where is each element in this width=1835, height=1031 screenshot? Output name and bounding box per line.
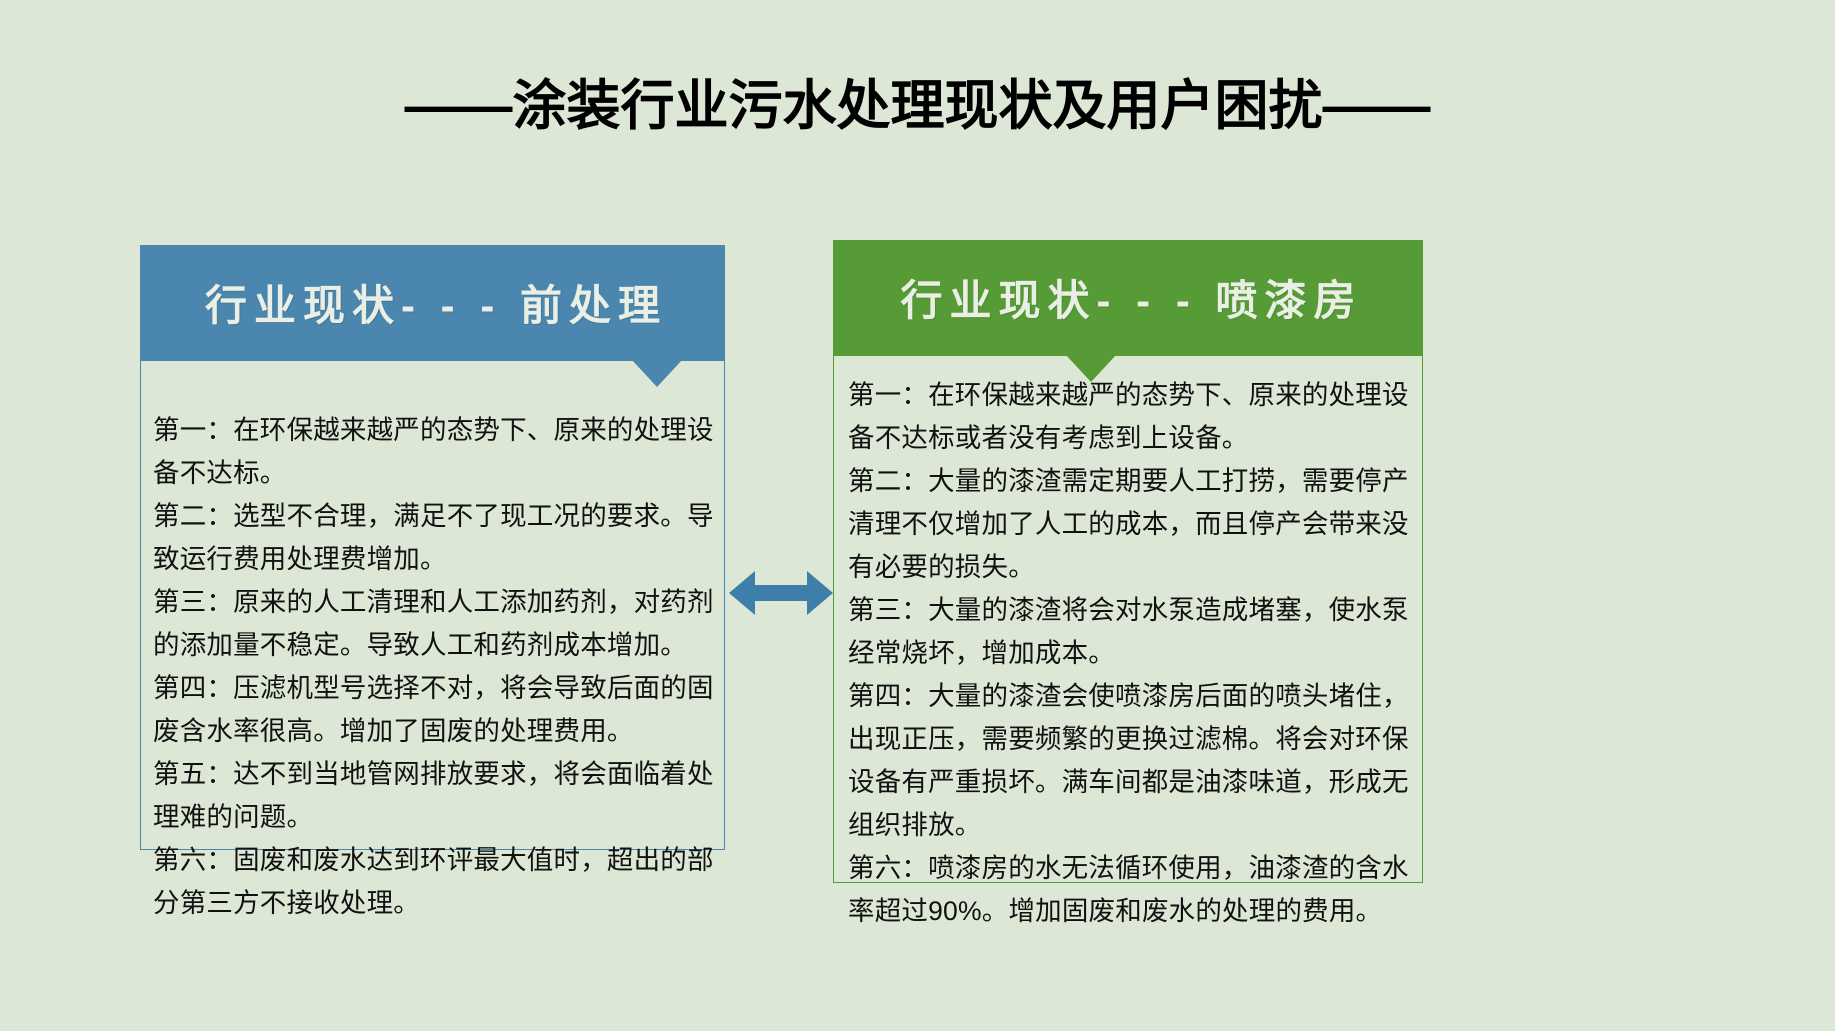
- list-item: 第二：选型不合理，满足不了现工况的要求。导致运行费用处理费增加。: [153, 495, 714, 581]
- panel-pretreatment: 行业现状- - - 前处理 第一：在环保越来越严的态势下、原来的处理设备不达标。…: [140, 245, 725, 850]
- header-pointer-icon: [1065, 354, 1117, 382]
- list-item: 第二：大量的漆渣需定期要人工打捞，需要停产清理不仅增加了人工的成本，而且停产会带…: [848, 460, 1412, 589]
- panel-spray-booth-header-label: 行业现状- - - 喷漆房: [894, 267, 1363, 328]
- list-item: 第六：喷漆房的水无法循环使用，油漆渣的含水率超过90%。增加固废和废水的处理的费…: [848, 847, 1412, 933]
- panel-pretreatment-header: 行业现状- - - 前处理: [140, 245, 725, 360]
- double-arrow-horizontal-icon: [729, 565, 833, 621]
- list-item: 第四：大量的漆渣会使喷漆房后面的喷头堵住，出现正压，需要频繁的更换过滤棉。将会对…: [848, 675, 1412, 847]
- page-title: ——涂装行业污水处理现状及用户困扰——: [0, 74, 1835, 139]
- panel-pretreatment-body: 第一：在环保越来越严的态势下、原来的处理设备不达标。 第二：选型不合理，满足不了…: [140, 360, 725, 850]
- list-item: 第四：压滤机型号选择不对，将会导致后面的固废含水率很高。增加了固废的处理费用。: [153, 667, 714, 753]
- header-pointer-icon: [631, 359, 683, 387]
- list-item: 第六：固废和废水达到环评最大值时，超出的部分第三方不接收处理。: [153, 839, 714, 925]
- list-item: 第五：达不到当地管网排放要求，将会面临着处理难的问题。: [153, 753, 714, 839]
- panel-spray-booth-header: 行业现状- - - 喷漆房: [833, 240, 1423, 355]
- panel-spray-booth: 行业现状- - - 喷漆房 第一：在环保越来越严的态势下、原来的处理设备不达标或…: [833, 240, 1423, 883]
- panel-spray-booth-body: 第一：在环保越来越严的态势下、原来的处理设备不达标或者没有考虑到上设备。 第二：…: [833, 355, 1423, 883]
- panel-pretreatment-header-label: 行业现状- - - 前处理: [198, 272, 667, 333]
- list-item: 第一：在环保越来越严的态势下、原来的处理设备不达标或者没有考虑到上设备。: [848, 374, 1412, 460]
- list-item: 第三：大量的漆渣将会对水泵造成堵塞，使水泵经常烧坏，增加成本。: [848, 589, 1412, 675]
- list-item: 第三：原来的人工清理和人工添加药剂，对药剂的添加量不稳定。导致人工和药剂成本增加…: [153, 581, 714, 667]
- list-item: 第一：在环保越来越严的态势下、原来的处理设备不达标。: [153, 409, 714, 495]
